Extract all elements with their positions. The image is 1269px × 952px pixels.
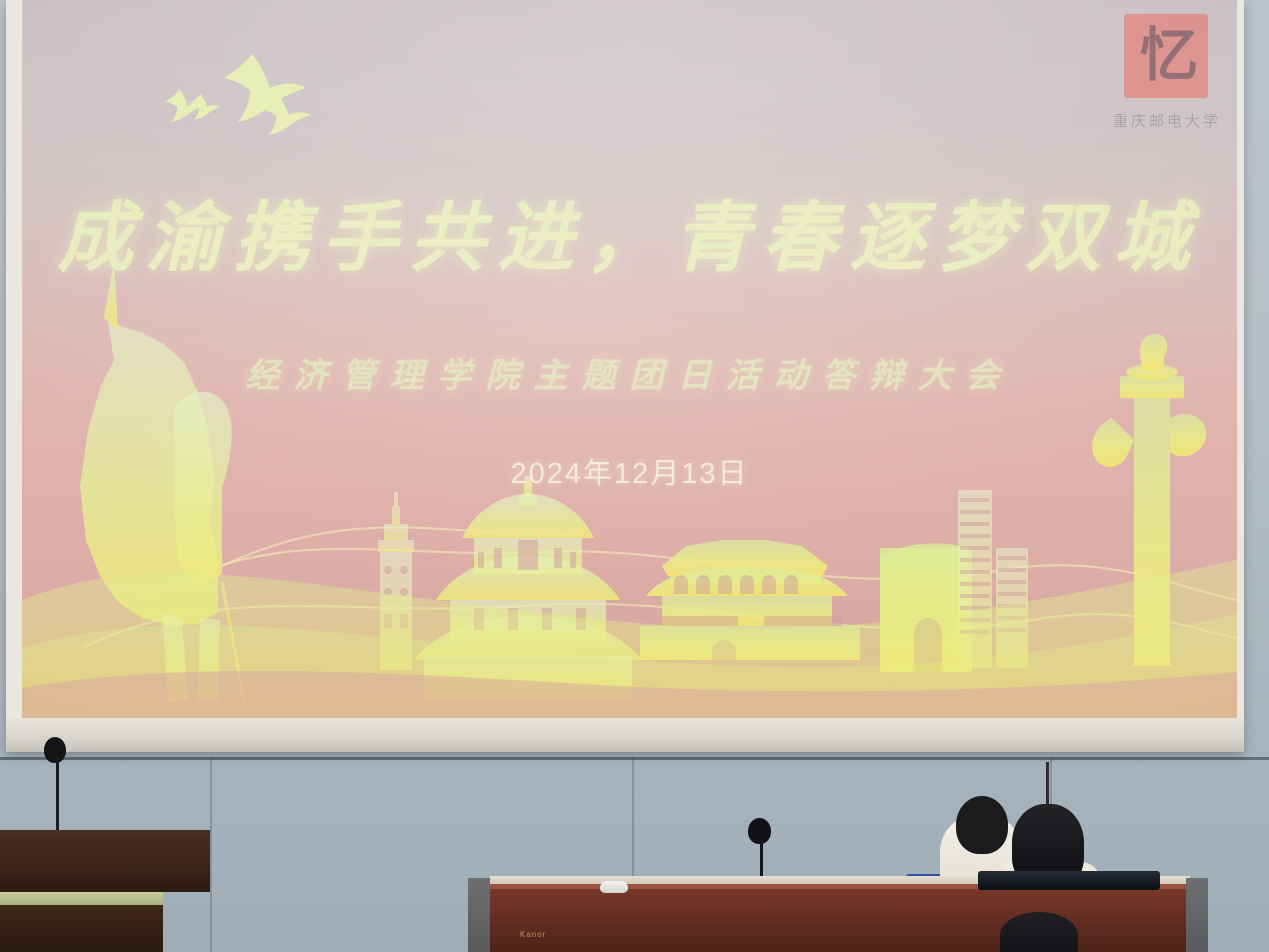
table-front-panel (486, 884, 1190, 952)
slide-title: 成渝携手共进，青春逐梦双城 (22, 176, 1237, 286)
table-end-right (1186, 878, 1208, 952)
gooseneck-microphone-left-head (44, 737, 66, 763)
slide-subtitle: 经济管理学院主题团日活动答辩大会 (22, 348, 1237, 397)
lecture-hall-photo: 成渝携手共进，青春逐梦双城 经济管理学院主题团日活动答辩大会 2024年12月1… (0, 0, 1269, 952)
lectern (0, 830, 210, 952)
gooseneck-microphone-left-stem (56, 757, 59, 835)
projection-screen: 成渝携手共进，青春逐梦双城 经济管理学院主题团日活动答辩大会 2024年12月1… (6, 0, 1244, 752)
university-logo: 忆 重庆邮电大学 (1106, 14, 1228, 144)
wireless-presenter-mouse[interactable] (600, 881, 628, 893)
lectern-top (0, 830, 210, 892)
projection-screen-bottom-bar (6, 718, 1244, 752)
logo-university-name: 重庆邮电大学 (1106, 110, 1228, 131)
laptop-closed[interactable] (978, 871, 1160, 890)
presentation-slide: 成渝携手共进，青春逐梦双城 经济管理学院主题团日活动答辩大会 2024年12月1… (22, 0, 1237, 718)
foreground-attendee-head (1000, 912, 1078, 952)
logo-seal-icon: 忆 (1124, 14, 1208, 98)
rolling-hills-icon (22, 560, 1237, 718)
wall-panel-seam (632, 757, 634, 882)
wall-panel-seam (210, 757, 212, 952)
lectern-body (0, 905, 163, 952)
table-end-left (468, 878, 490, 952)
dove-flock-icon (154, 38, 354, 158)
lectern-shelf (0, 892, 163, 905)
desk-brand-mark: Kanor (520, 930, 546, 939)
logo-seal-glyph: 忆 (1124, 14, 1208, 98)
wall-trim-rail (0, 757, 1269, 760)
slide-date: 2024年12月13日 (22, 450, 1237, 492)
